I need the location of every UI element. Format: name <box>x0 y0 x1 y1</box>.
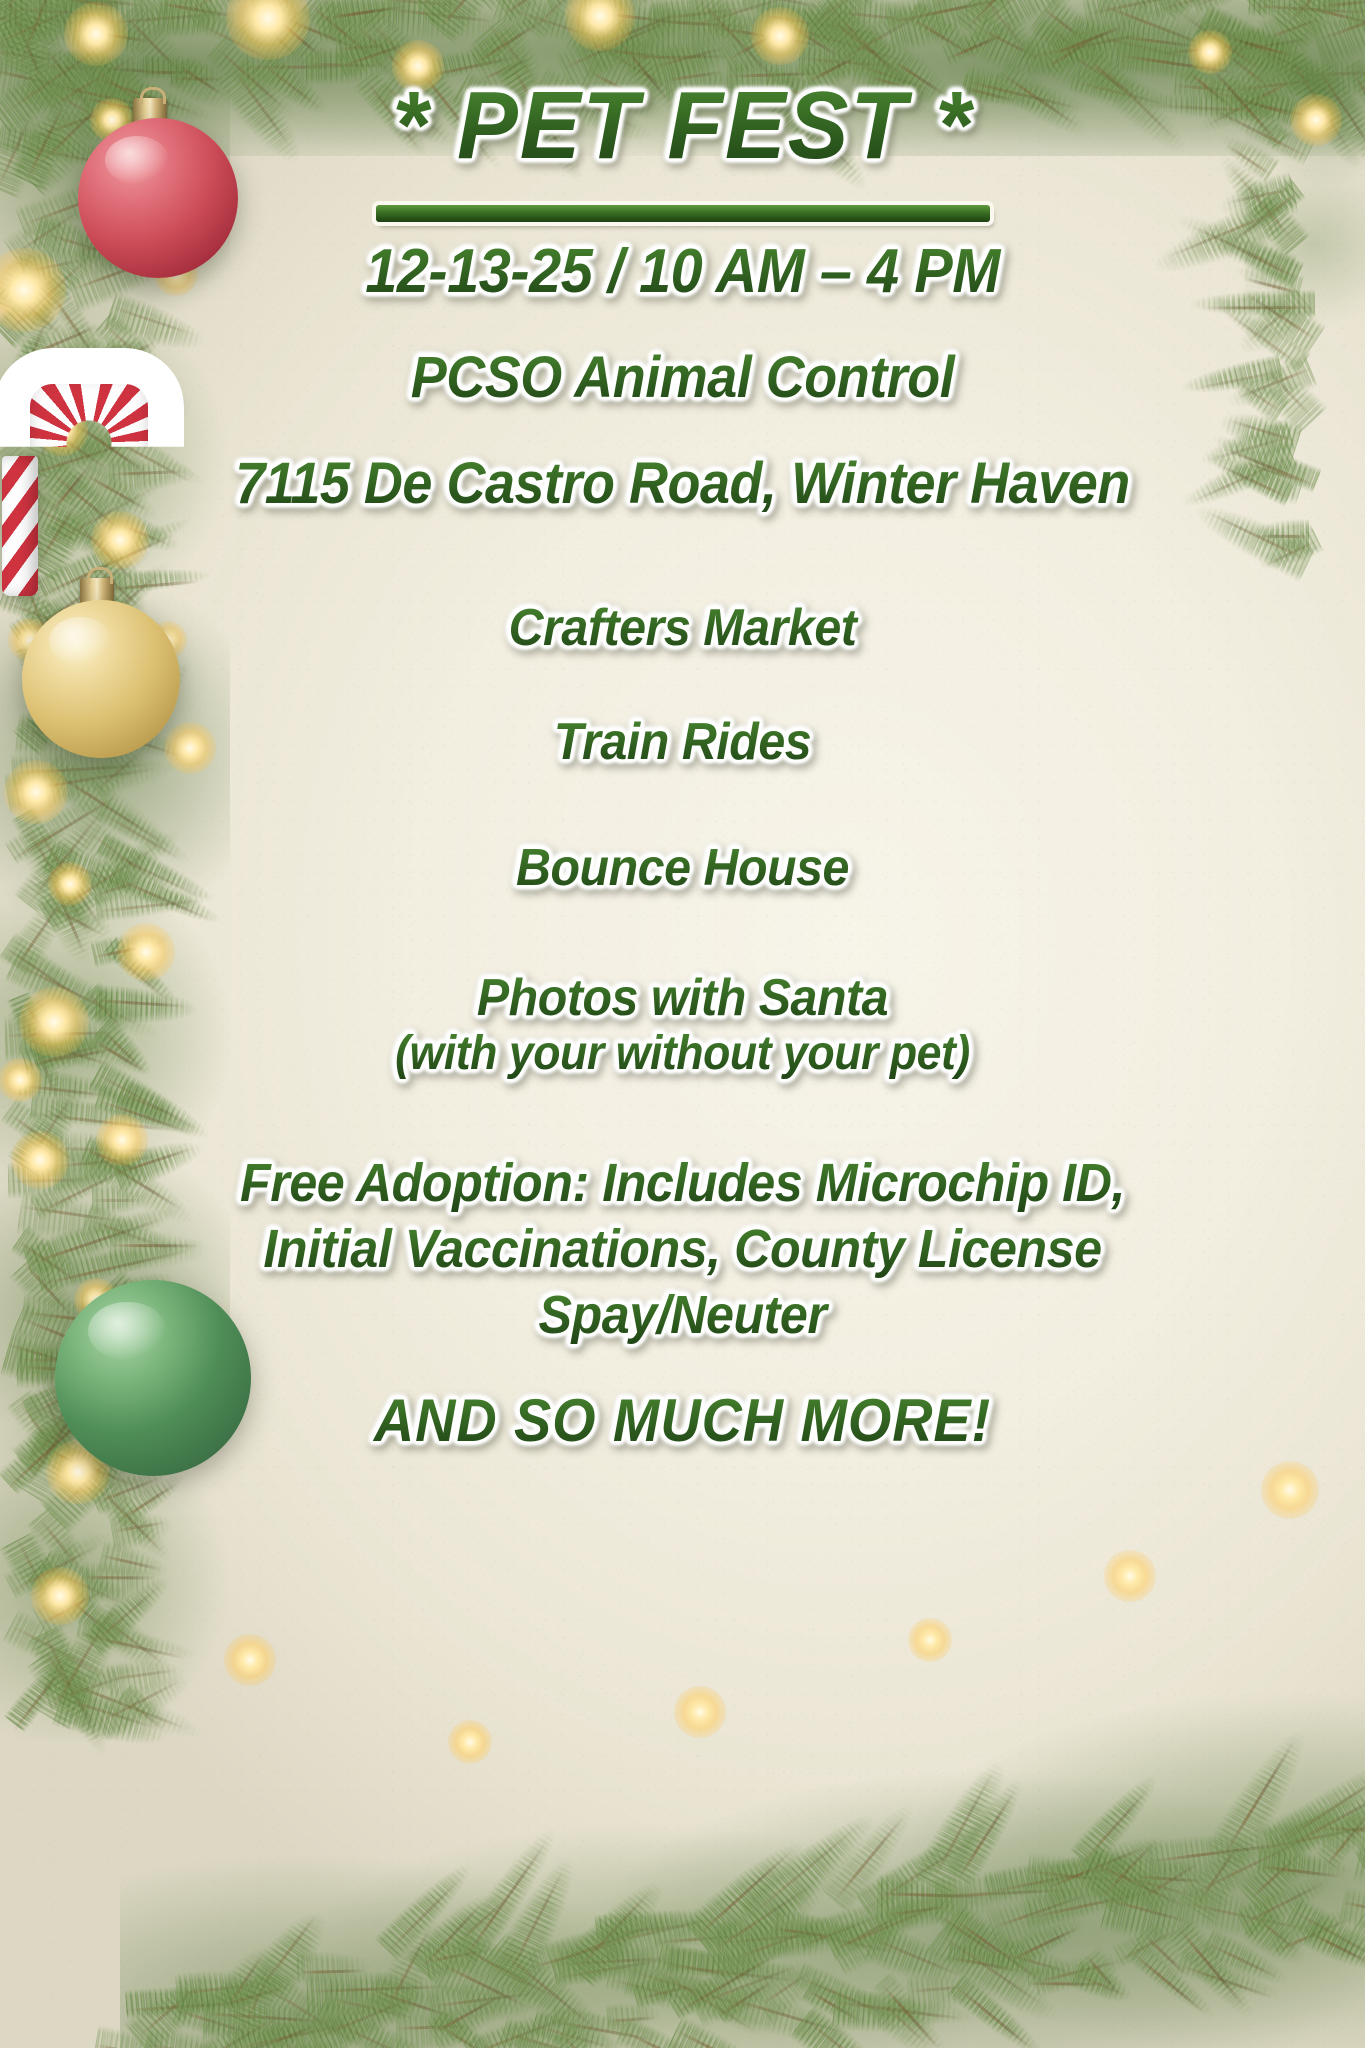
flyer-content: * PET FEST * 12-13-25 / 10 AM – 4 PM PCS… <box>0 0 1365 2048</box>
pet-fest-flyer: * PET FEST * 12-13-25 / 10 AM – 4 PM PCS… <box>0 0 1365 2048</box>
title-divider-bar <box>376 205 990 222</box>
event-organization: PCSO Animal Control <box>48 344 1317 411</box>
flyer-title: * PET FEST * <box>34 76 1331 176</box>
activity-train-rides: Train Rides <box>48 712 1317 772</box>
adoption-line-1: Free Adoption: Includes Microchip ID, <box>48 1152 1317 1214</box>
adoption-line-2: Initial Vaccinations, County License <box>48 1218 1317 1280</box>
activity-photos-with-santa: Photos with Santa <box>48 968 1317 1028</box>
activity-crafters-market: Crafters Market <box>48 598 1317 658</box>
flyer-tagline: AND SO MUCH MORE! <box>48 1386 1317 1455</box>
event-address: 7115 De Castro Road, Winter Haven <box>48 450 1317 517</box>
event-date-time: 12-13-25 / 10 AM – 4 PM <box>48 236 1317 307</box>
title-divider <box>0 205 1365 222</box>
activity-bounce-house: Bounce House <box>48 838 1317 898</box>
photos-with-santa-note: (with your without your pet) <box>48 1026 1317 1081</box>
adoption-line-3: Spay/Neuter <box>48 1284 1317 1346</box>
